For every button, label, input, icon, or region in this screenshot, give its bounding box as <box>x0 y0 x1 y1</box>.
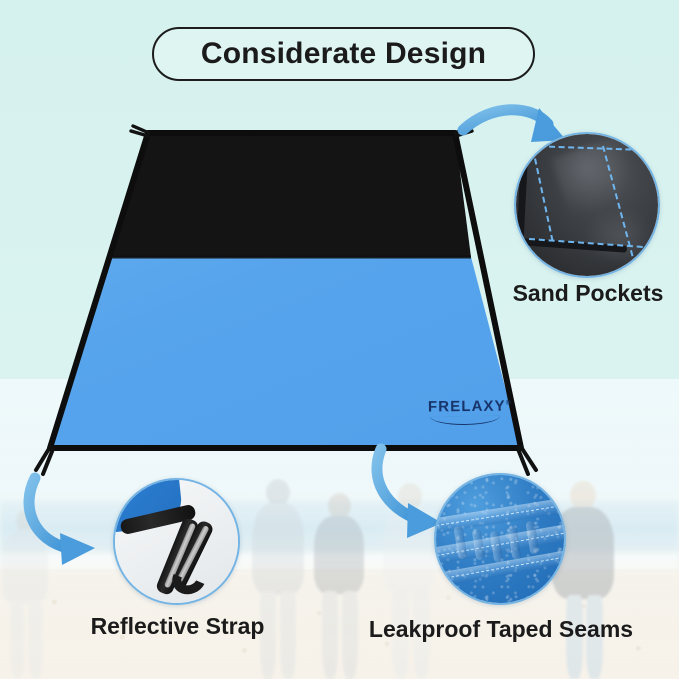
leakproof-taped-seams-label: Leakproof Taped Seams <box>355 616 647 643</box>
brand-logo: FRELAXY® <box>428 398 512 416</box>
mat-corner-tab-top-left <box>131 126 149 136</box>
brand-name: FRELAXY <box>428 398 506 416</box>
reflective-strap-label: Reflective Strap <box>85 613 270 640</box>
mat-corner-tab-bottom-right <box>518 447 536 474</box>
strap-icon <box>115 480 238 603</box>
registered-trademark-icon: ® <box>506 400 512 407</box>
infographic-canvas: FRELAXY® Considerate Design <box>0 0 679 679</box>
mat-top-panel <box>110 133 471 257</box>
product-mat <box>0 0 679 679</box>
sand-pockets-photo <box>514 132 660 278</box>
seam-tape-icon <box>436 475 564 603</box>
mat-corner-tab-bottom-left <box>36 447 53 474</box>
mat-corner-tab-top-right <box>455 126 472 136</box>
leakproof-taped-seams-photo <box>434 473 566 605</box>
pocket-corner-icon <box>516 134 658 276</box>
page-title-pill: Considerate Design <box>152 27 535 81</box>
sand-pockets-label: Sand Pockets <box>504 280 672 307</box>
page-title: Considerate Design <box>201 37 486 71</box>
reflective-strap-photo <box>113 478 240 605</box>
